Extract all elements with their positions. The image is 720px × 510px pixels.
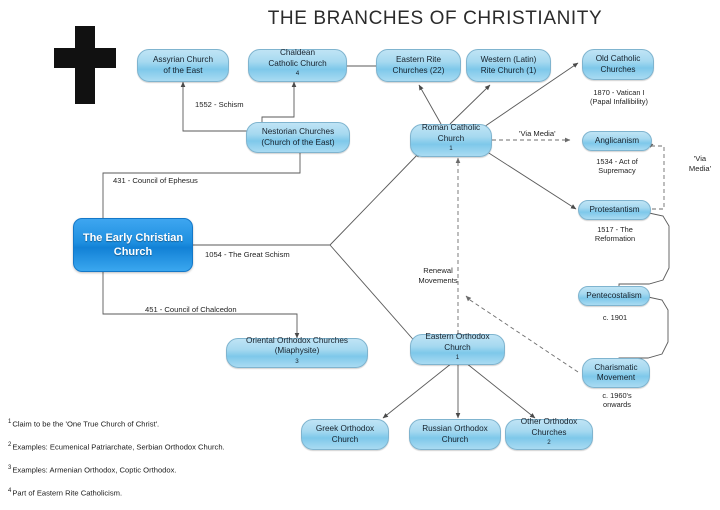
node-label-line1: Western (Latin) xyxy=(481,55,537,66)
edge-label-council-of-ephesus: 431 - Council of Ephesus xyxy=(113,176,198,186)
footnote-4: 4Part of Eastern Rite Catholicism. xyxy=(8,487,428,498)
node-label-line2: Church xyxy=(425,343,489,354)
annotation-line2: onwards xyxy=(603,400,631,409)
footnote-ref-3: 3 xyxy=(295,358,298,365)
edge-label-great-schism: 1054 - The Great Schism xyxy=(205,250,290,260)
node-charismatic-movement[interactable]: Charismatic Movement xyxy=(582,358,650,388)
node-label: The Early Christian Church xyxy=(77,231,189,259)
footnote-marker: 1 xyxy=(8,419,11,425)
node-roman-catholic-church[interactable]: Roman Catholic Church1 xyxy=(410,124,492,157)
annotation-reformation: 1517 - The Reformation xyxy=(568,225,662,244)
annotation-charismatic-date: c. 1960's onwards xyxy=(570,391,664,410)
node-label-line1: Russian Orthodox xyxy=(422,424,488,435)
annotation-line2: Reformation xyxy=(595,234,635,243)
node-pentecostalism[interactable]: Pentecostalism xyxy=(578,286,650,306)
node-label-line2: Church xyxy=(422,435,488,446)
node-label-line1: Charismatic xyxy=(594,363,637,374)
edge-label-via-media-left: 'Via Media' xyxy=(519,129,556,139)
node-label-line2: Churches xyxy=(521,428,577,439)
footnotes-list: 1Claim to be the 'One True Church of Chr… xyxy=(8,418,428,510)
node-label-line1: Assyrian Church xyxy=(153,55,213,66)
diagram-canvas: THE BRANCHES OF CHRISTIANITY xyxy=(0,0,720,509)
node-label-line2: Church xyxy=(422,134,480,145)
annotation-vatican-i: 1870 - Vatican I (Papal Infallibility) xyxy=(570,88,668,107)
annotation-act-of-supremacy: 1534 - Act of Supremacy xyxy=(570,157,664,176)
node-nestorian-churches[interactable]: Nestorian Churches (Church of the East) xyxy=(246,122,350,153)
footnote-text: Part of Eastern Rite Catholicism. xyxy=(12,489,122,498)
node-label: Anglicanism xyxy=(595,136,639,147)
node-label-line2: Churches xyxy=(596,65,641,76)
edge-label-via-media-right: 'Via Media' xyxy=(683,154,717,173)
footnote-text: Claim to be the 'One True Church of Chri… xyxy=(12,420,159,429)
footnote-marker: 4 xyxy=(8,488,11,494)
node-western-latin-rite-church[interactable]: Western (Latin) Rite Church (1) xyxy=(466,49,551,82)
edge-label-council-of-chalcedon: 451 - Council of Chalcedon xyxy=(145,305,237,315)
edge-label-line2: Movements xyxy=(418,276,457,285)
annotation-line1: 1534 - Act of xyxy=(596,157,638,166)
node-protestantism[interactable]: Protestantism xyxy=(578,200,651,220)
node-label-line2: Churches (22) xyxy=(393,66,445,77)
node-eastern-orthodox-church[interactable]: Eastern Orthodox Church1 xyxy=(410,334,505,365)
christian-cross-icon xyxy=(46,24,124,106)
node-old-catholic-churches[interactable]: Old Catholic Churches xyxy=(582,49,654,80)
edge-label-line1: Renewal xyxy=(423,266,453,275)
node-label-line2: Rite Church (1) xyxy=(481,66,537,77)
footnote-3: 3Examples: Armenian Orthodox, Coptic Ort… xyxy=(8,464,428,475)
annotation-pentecostalism-date: c. 1901 xyxy=(568,313,662,322)
footnote-ref-2: 2 xyxy=(547,439,550,446)
node-eastern-rite-churches[interactable]: Eastern Rite Churches (22) xyxy=(376,49,461,82)
footnote-marker: 3 xyxy=(8,465,11,471)
annotation-line2: (Papal Infallibility) xyxy=(590,97,648,106)
node-label-line1: Roman Catholic xyxy=(422,123,480,134)
footnote-text: Examples: Ecumenical Patriarchate, Serbi… xyxy=(12,443,224,452)
edge-label-line1: 'Via xyxy=(694,154,706,163)
node-label-line1: Nestorian Churches xyxy=(261,127,334,138)
footnote-ref-1: 1 xyxy=(449,145,452,152)
node-label: Pentecostalism xyxy=(586,291,642,302)
footnote-text: Examples: Armenian Orthodox, Coptic Orth… xyxy=(12,466,176,475)
footnote-marker: 2 xyxy=(8,442,11,448)
annotation-line1: c. 1960's xyxy=(602,391,631,400)
page-title: THE BRANCHES OF CHRISTIANITY xyxy=(225,8,645,30)
footnote-ref-1: 1 xyxy=(456,354,459,361)
edge-label-schism-1552: 1552 - Schism xyxy=(195,100,244,110)
annotation-line1: 1517 - The xyxy=(597,225,633,234)
node-anglicanism[interactable]: Anglicanism xyxy=(582,131,652,151)
footnote-1: 1Claim to be the 'One True Church of Chr… xyxy=(8,418,428,429)
node-label-line2: Movement xyxy=(594,373,637,384)
node-label-line1: Eastern Rite xyxy=(393,55,445,66)
node-early-christian-church[interactable]: The Early Christian Church xyxy=(73,218,193,272)
node-label-line2: Catholic Church xyxy=(268,59,326,70)
node-label-line2: (Church of the East) xyxy=(261,138,334,149)
node-chaldean-catholic-church[interactable]: Chaldean Catholic Church4 xyxy=(248,49,347,82)
node-label-line2: (Miaphysite) xyxy=(246,346,348,357)
node-assyrian-church[interactable]: Assyrian Church of the East xyxy=(137,49,229,82)
annotation-line1: 1870 - Vatican I xyxy=(593,88,644,97)
edge-label-line2: Media' xyxy=(689,164,711,173)
node-oriental-orthodox-churches[interactable]: Oriental Orthodox Churches (Miaphysite)3 xyxy=(226,338,368,368)
footnote-ref-4: 4 xyxy=(296,70,299,77)
edge-label-renewal-movements: Renewal Movements xyxy=(404,266,472,285)
node-label-line1: Eastern Orthodox xyxy=(425,332,489,343)
node-label-line1: Oriental Orthodox Churches xyxy=(246,336,348,347)
footnote-2: 2Examples: Ecumenical Patriarchate, Serb… xyxy=(8,441,428,452)
node-label-line2: of the East xyxy=(153,66,213,77)
node-other-orthodox-churches[interactable]: Other Orthodox Churches2 xyxy=(505,419,593,450)
node-label-line1: Chaldean xyxy=(268,48,326,59)
node-label: Protestantism xyxy=(589,205,639,216)
annotation-line2: Supremacy xyxy=(598,166,635,175)
node-label-line1: Old Catholic xyxy=(596,54,641,65)
node-label-line1: Other Orthodox xyxy=(521,417,577,428)
